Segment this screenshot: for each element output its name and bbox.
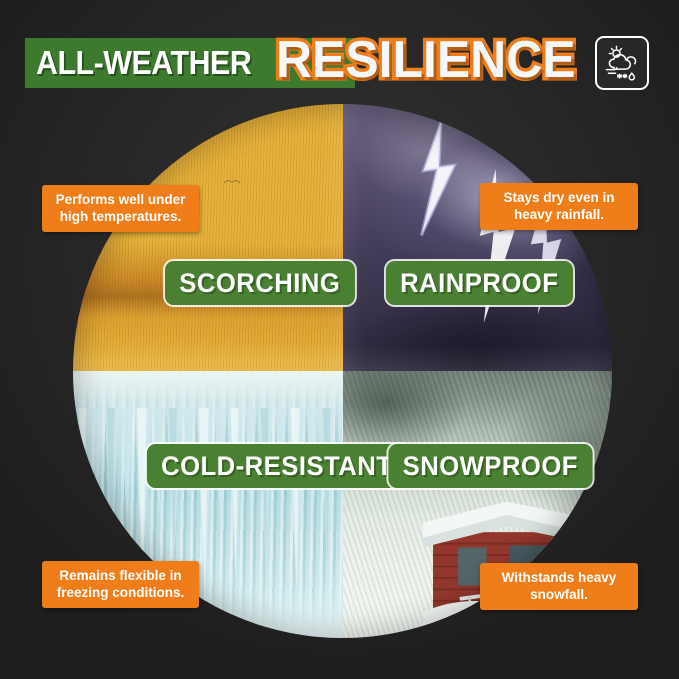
weather-sun-cloud-wind-snow-rain-icon <box>602 43 642 83</box>
header-banner: ALL-WEATHER RESILIENCE <box>0 0 679 110</box>
quadrant-image-scorching <box>73 104 343 371</box>
caption-cold-resistant: Remains flexible in freezing conditions. <box>42 561 199 608</box>
caption-rainproof: Stays dry even in heavy rainfall. <box>480 183 638 230</box>
heading-scorching: SCORCHING <box>165 261 355 305</box>
bird-silhouette-icon <box>224 179 240 184</box>
heading-rainproof: RAINPROOF <box>386 261 573 305</box>
lightning-bolt-icon <box>402 120 472 237</box>
page-title-primary: ALL-WEATHER <box>36 41 251 85</box>
caption-snowproof: Withstands heavy snowfall. <box>480 563 638 610</box>
page-title-accent: RESILIENCE <box>276 26 576 94</box>
heading-cold-resistant: COLD-RESISTANT <box>147 444 407 488</box>
quadrant-image-rainproof <box>343 104 613 371</box>
heading-snowproof: SNOWPROOF <box>388 444 592 488</box>
caption-scorching: Performs well under high temperatures. <box>42 185 199 232</box>
weather-icon-badge <box>595 36 649 90</box>
